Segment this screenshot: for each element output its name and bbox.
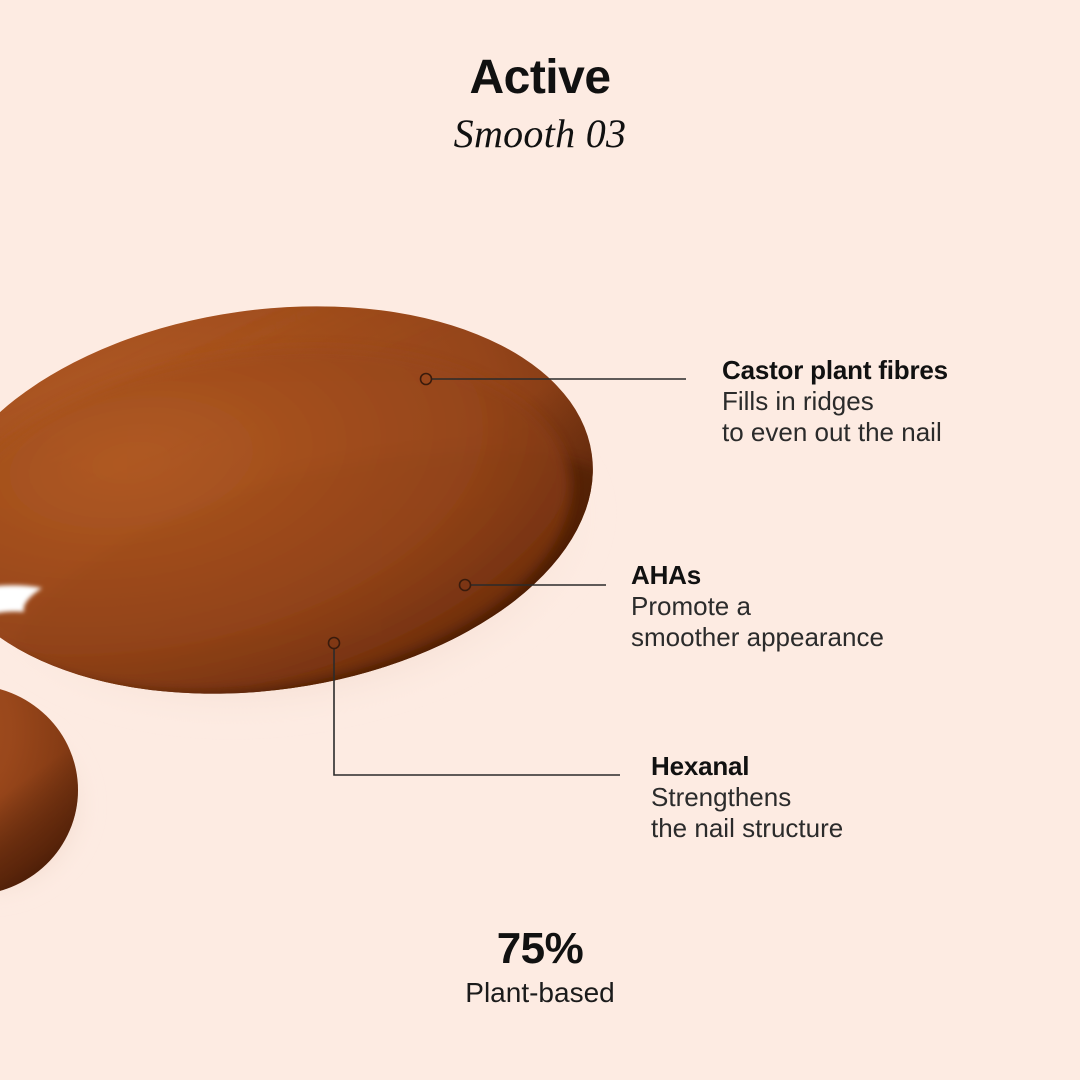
callout-body: Promote a smoother appearance	[631, 591, 884, 652]
plant-based-stat: 75% Plant-based	[0, 925, 1080, 1010]
poster-header: Active Smooth 03	[0, 52, 1080, 159]
stat-value: 75%	[0, 925, 1080, 973]
callout-title: Hexanal	[651, 751, 843, 782]
leader-lines-layer	[0, 0, 1080, 1080]
callout-body: Fills in ridges to even out the nail	[722, 386, 948, 447]
leader-line-ahas	[460, 580, 607, 591]
leader-line-castor	[421, 374, 687, 385]
callout-hexanal: Hexanal Strengthens the nail structure	[651, 751, 843, 844]
page-title: Active	[0, 52, 1080, 105]
callout-body: Strengthens the nail structure	[651, 782, 843, 843]
callout-title: AHAs	[631, 560, 884, 591]
callout-title: Castor plant fibres	[722, 355, 948, 386]
callout-castor-plant-fibres: Castor plant fibres Fills in ridges to e…	[722, 355, 948, 448]
callout-ahas: AHAs Promote a smoother appearance	[631, 560, 884, 653]
page-subtitle: Smooth 03	[0, 109, 1080, 159]
poster-canvas: Active Smooth 03 Castor plant fibres Fil…	[0, 0, 1080, 1080]
leader-line-hexanal	[329, 638, 621, 776]
stat-label: Plant-based	[0, 976, 1080, 1010]
